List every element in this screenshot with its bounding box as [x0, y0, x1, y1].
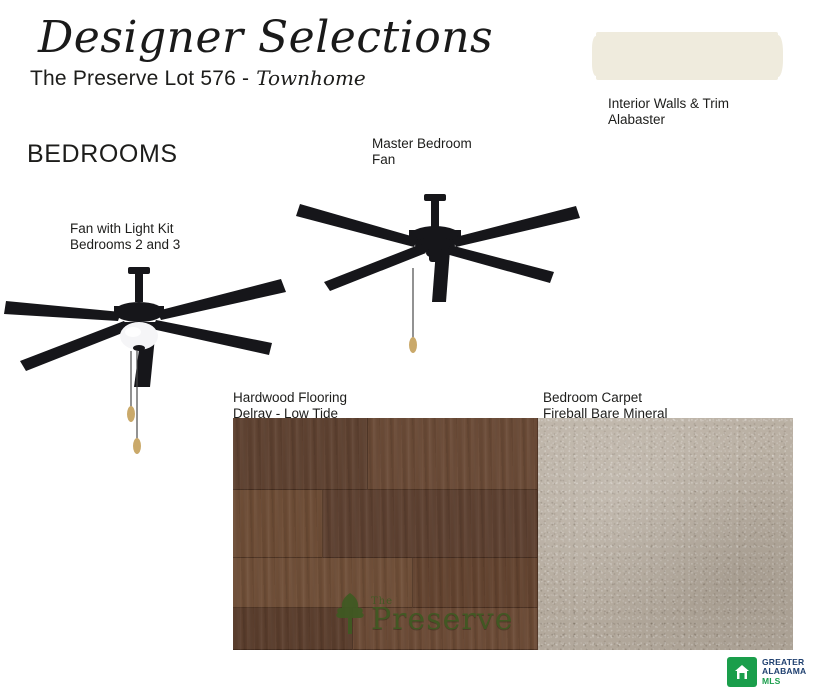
caption-carpet-line1: Bedroom Carpet	[543, 390, 668, 406]
paint-label-line1: Interior Walls & Trim	[608, 96, 729, 112]
subtitle-lot: The Preserve Lot 576 -	[30, 67, 249, 91]
paint-label-line2: Alabaster	[608, 112, 729, 128]
tree-logo-icon	[333, 591, 367, 635]
mls-logo-text: GREATER ALABAMA MLS	[762, 658, 806, 687]
caption-master-fan: Master Bedroom Fan	[372, 136, 472, 168]
pull-chain-icon	[409, 268, 417, 353]
mls-logo: GREATER ALABAMA MLS	[727, 657, 806, 687]
caption-light-fan: Fan with Light Kit Bedrooms 2 and 3	[70, 221, 180, 253]
preserve-watermark: The Preserve	[333, 591, 513, 635]
page-title: Designer Selections	[38, 12, 493, 63]
caption-master-fan-line1: Master Bedroom	[372, 136, 472, 152]
paint-swatch-alabaster	[596, 32, 778, 80]
caption-light-fan-line1: Fan with Light Kit	[70, 221, 180, 237]
swatch-hardwood-delray-low-tide: The Preserve	[233, 418, 538, 650]
caption-master-fan-line2: Fan	[372, 152, 472, 168]
swatch-carpet-fireball-bare-mineral	[538, 418, 793, 650]
mls-line-3: MLS	[762, 677, 806, 687]
caption-light-fan-line2: Bedrooms 2 and 3	[70, 237, 180, 253]
product-image-master-fan	[290, 190, 600, 380]
subtitle-plan: Townhome	[256, 66, 366, 90]
ceiling-fan-icon	[290, 190, 600, 380]
house-badge-icon	[727, 657, 757, 687]
paint-swatch-label: Interior Walls & Trim Alabaster	[608, 96, 729, 128]
section-heading-bedrooms: BEDROOMS	[27, 140, 178, 169]
designer-selections-page: Designer Selections The Preserve Lot 576…	[0, 0, 825, 695]
watermark-name: Preserve	[371, 602, 513, 637]
page-subtitle: The Preserve Lot 576 - Townhome	[30, 66, 366, 91]
carpet-shading	[538, 418, 793, 650]
